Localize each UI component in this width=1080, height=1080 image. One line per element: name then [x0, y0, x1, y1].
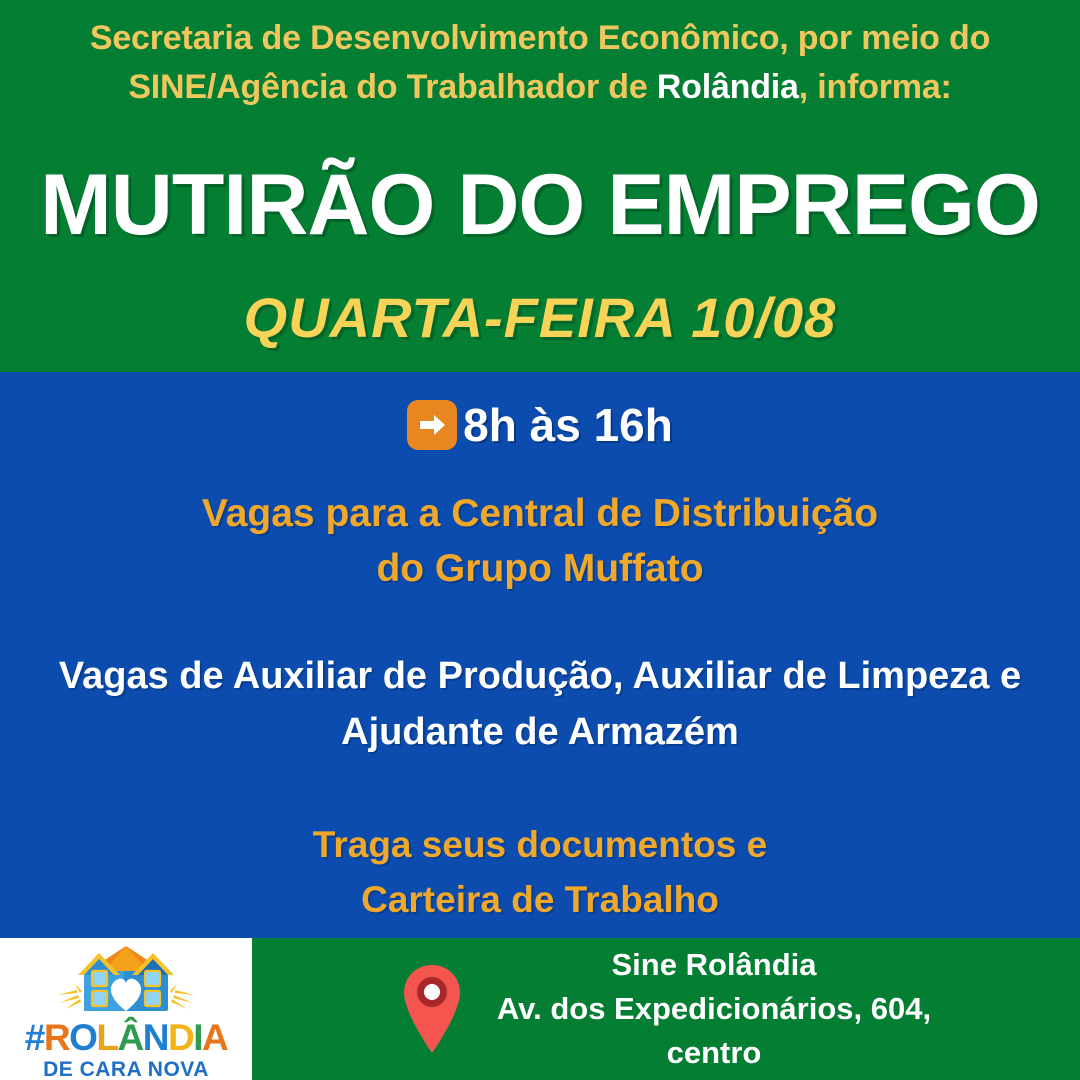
logo-letter: O	[69, 1019, 96, 1056]
documents-line-1: Traga seus documentos e	[0, 818, 1080, 873]
map-pin-icon	[401, 963, 463, 1060]
logo-hashtag: #	[25, 1019, 44, 1056]
event-time-label: 8h às 16h	[463, 402, 673, 448]
documents-block: Traga seus documentos e Carteira de Trab…	[0, 818, 1080, 928]
event-time-row: 8h às 16h	[0, 400, 1080, 450]
logo-wordmark: #ROLÂNDIA	[25, 1019, 227, 1056]
documents-line-2: Carteira de Trabalho	[0, 873, 1080, 928]
address-row: Sine Rolândia Av. dos Expedicionários, 6…	[252, 938, 1080, 1080]
address-line-3: centro	[497, 1031, 931, 1075]
city-logo-panel: #ROLÂNDIA DE CARA NOVA	[0, 938, 252, 1080]
vacancy-location-block: Vagas para a Central de Distribuição do …	[0, 486, 1080, 597]
logo-letter: D	[168, 1019, 193, 1056]
header-line-2-suffix: , informa:	[799, 68, 952, 106]
vacancy-roles-line-2: Ajudante de Armazém	[16, 704, 1064, 760]
logo-letter: N	[143, 1019, 168, 1056]
logo-letter: R	[44, 1019, 69, 1056]
header-line-1: Secretaria de Desenvolvimento Econômico,…	[16, 14, 1064, 63]
header-line-2-prefix: SINE/Agência do Trabalhador de	[128, 68, 656, 106]
address-text: Sine Rolândia Av. dos Expedicionários, 6…	[497, 943, 931, 1075]
header-city-highlight: Rolândia	[657, 68, 799, 106]
right-arrow-icon	[407, 400, 457, 450]
vacancy-roles-line-1: Vagas de Auxiliar de Produção, Auxiliar …	[16, 648, 1064, 704]
address-line-1: Sine Rolândia	[497, 943, 931, 987]
poster-subtitle-date: QUARTA-FEIRA 10/08	[0, 285, 1080, 350]
vacancy-roles-block: Vagas de Auxiliar de Produção, Auxiliar …	[0, 648, 1080, 760]
logo-letter: I	[193, 1019, 202, 1056]
poster-title: MUTIRÃO DO EMPREGO	[0, 160, 1080, 250]
poster-root: Secretaria de Desenvolvimento Econômico,…	[0, 0, 1080, 1080]
vacancy-location-line-1: Vagas para a Central de Distribuição	[0, 486, 1080, 541]
header-announcement: Secretaria de Desenvolvimento Econômico,…	[0, 14, 1080, 113]
vacancy-location-line-2: do Grupo Muffato	[0, 541, 1080, 596]
header-line-2: SINE/Agência do Trabalhador de Rolândia,…	[16, 63, 1064, 112]
house-heart-logo-icon	[51, 943, 201, 1020]
logo-letter: Â	[117, 1019, 142, 1056]
logo-letter: L	[96, 1019, 117, 1056]
logo-tagline: DE CARA NOVA	[43, 1059, 209, 1080]
address-line-2: Av. dos Expedicionários, 604,	[497, 987, 931, 1031]
logo-letter: A	[202, 1019, 227, 1056]
